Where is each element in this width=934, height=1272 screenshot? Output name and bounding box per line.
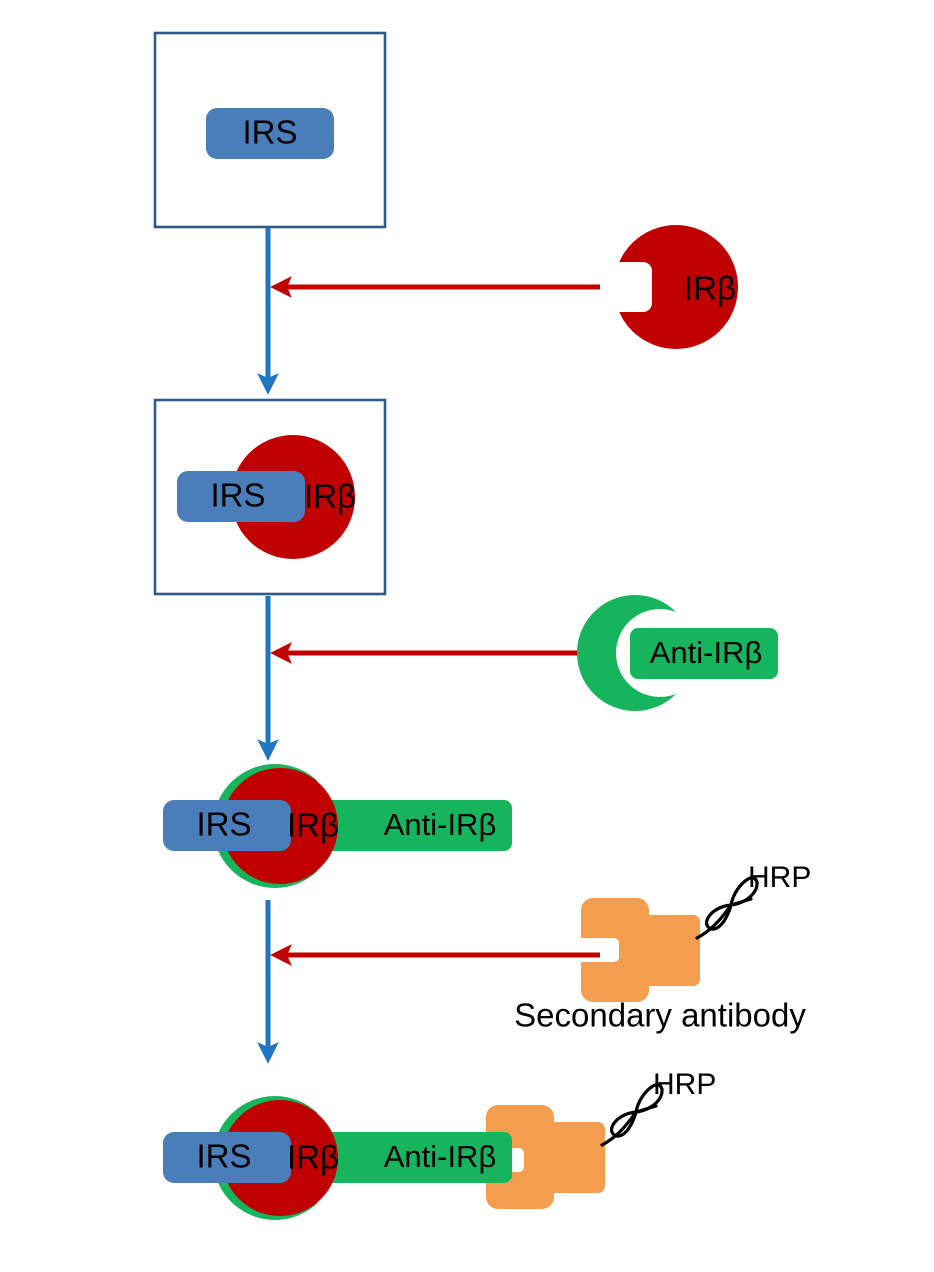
secondary-antibody-body [636, 915, 700, 986]
anti-irb-label: Anti-IRβ [650, 635, 763, 670]
anti-irb-label-step4: Anti-IRβ [384, 1139, 497, 1174]
secondary-antibody-reagent: HRP Secondary antibody [514, 861, 811, 1034]
step-3-complex: IRS IRβ Anti-IRβ [163, 764, 512, 888]
secondary-antibody-caption: Secondary antibody [514, 997, 806, 1034]
hrp-label-step4: HRP [653, 1068, 716, 1101]
step-1-well: IRS [155, 33, 385, 227]
step-4-complex: IRS IRβ Anti-IRβ HRP [163, 1068, 716, 1220]
elisa-diagram: IRS IRβ IRβ IRS [0, 0, 934, 1272]
irb-label-step3: IRβ [287, 807, 339, 844]
irb-label-step2: IRβ [304, 478, 356, 515]
irb-label-step4: IRβ [287, 1139, 339, 1176]
hrp-label: HRP [748, 861, 811, 894]
irs-label-step2: IRS [210, 477, 265, 514]
irs-label-step4: IRS [196, 1138, 251, 1175]
irs-label: IRS [242, 114, 297, 151]
anti-irb-label-step3: Anti-IRβ [384, 807, 497, 842]
irb-reagent: IRβ [614, 225, 738, 349]
irb-label: IRβ [684, 270, 736, 307]
diagram-canvas: IRS IRβ IRβ IRS [0, 0, 934, 1272]
secondary-antibody-body-step4 [541, 1122, 605, 1193]
irs-label-step3: IRS [196, 806, 251, 843]
step-2-well: IRβ IRS [155, 400, 385, 594]
irs-molecule-step1: IRS [206, 108, 334, 159]
anti-irb-reagent: Anti-IRβ [577, 595, 778, 711]
